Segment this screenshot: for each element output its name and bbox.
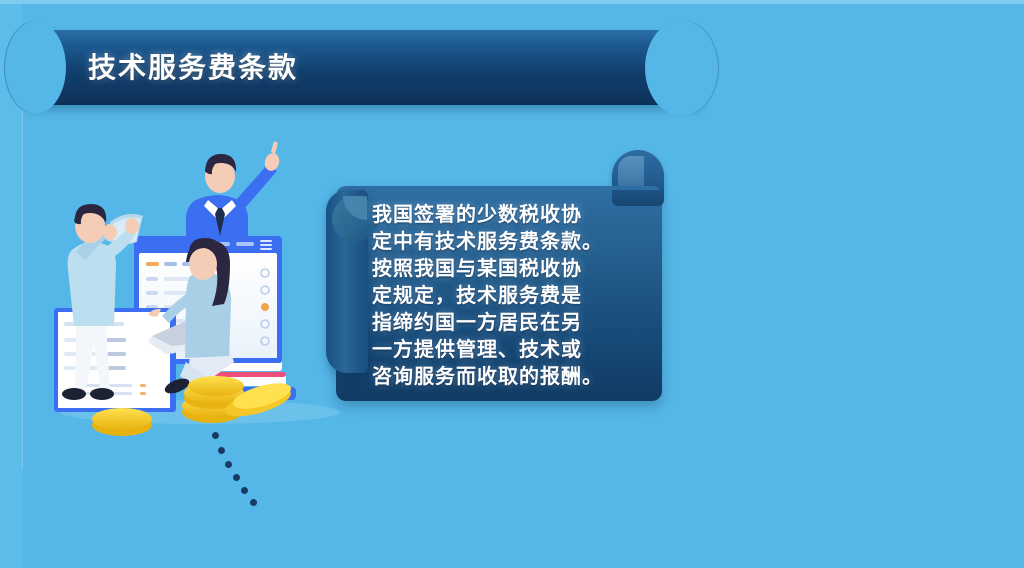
- scroll-line-2: 定中有技术服务费条款。: [372, 229, 664, 256]
- scroll-line-5: 指缔约国一方居民在另: [372, 310, 664, 337]
- scroll-line-4: 定规定，技术服务费是: [372, 283, 664, 310]
- scroll-line-6: 一方提供管理、技术或: [372, 337, 664, 364]
- scroll-line-7: 咨询服务而收取的报酬。: [372, 364, 664, 391]
- illustration-svg: [40, 140, 340, 440]
- scroll-text-card: 我国签署的少数税收协 定中有技术服务费条款。 按照我国与某国税收协 定规定，技术…: [326, 150, 672, 425]
- scroll-paragraph: 我国签署的少数税收协 定中有技术服务费条款。 按照我国与某国税收协 定规定，技术…: [372, 202, 664, 391]
- figure-man-raising-hand: [186, 141, 281, 242]
- title-banner: 技术服务费条款: [30, 30, 700, 105]
- scroll-line-1: 我国签署的少数税收协: [372, 202, 664, 229]
- slide-canvas: 技术服务费条款: [0, 0, 1024, 568]
- page-title: 技术服务费条款: [88, 46, 298, 86]
- business-teamwork-illustration: [40, 140, 340, 440]
- title-banner-right-notch: [645, 20, 719, 116]
- scroll-line-3: 按照我国与某国税收协: [372, 256, 664, 283]
- title-banner-left-notch: [4, 21, 66, 114]
- slide-top-edge: [0, 0, 1024, 4]
